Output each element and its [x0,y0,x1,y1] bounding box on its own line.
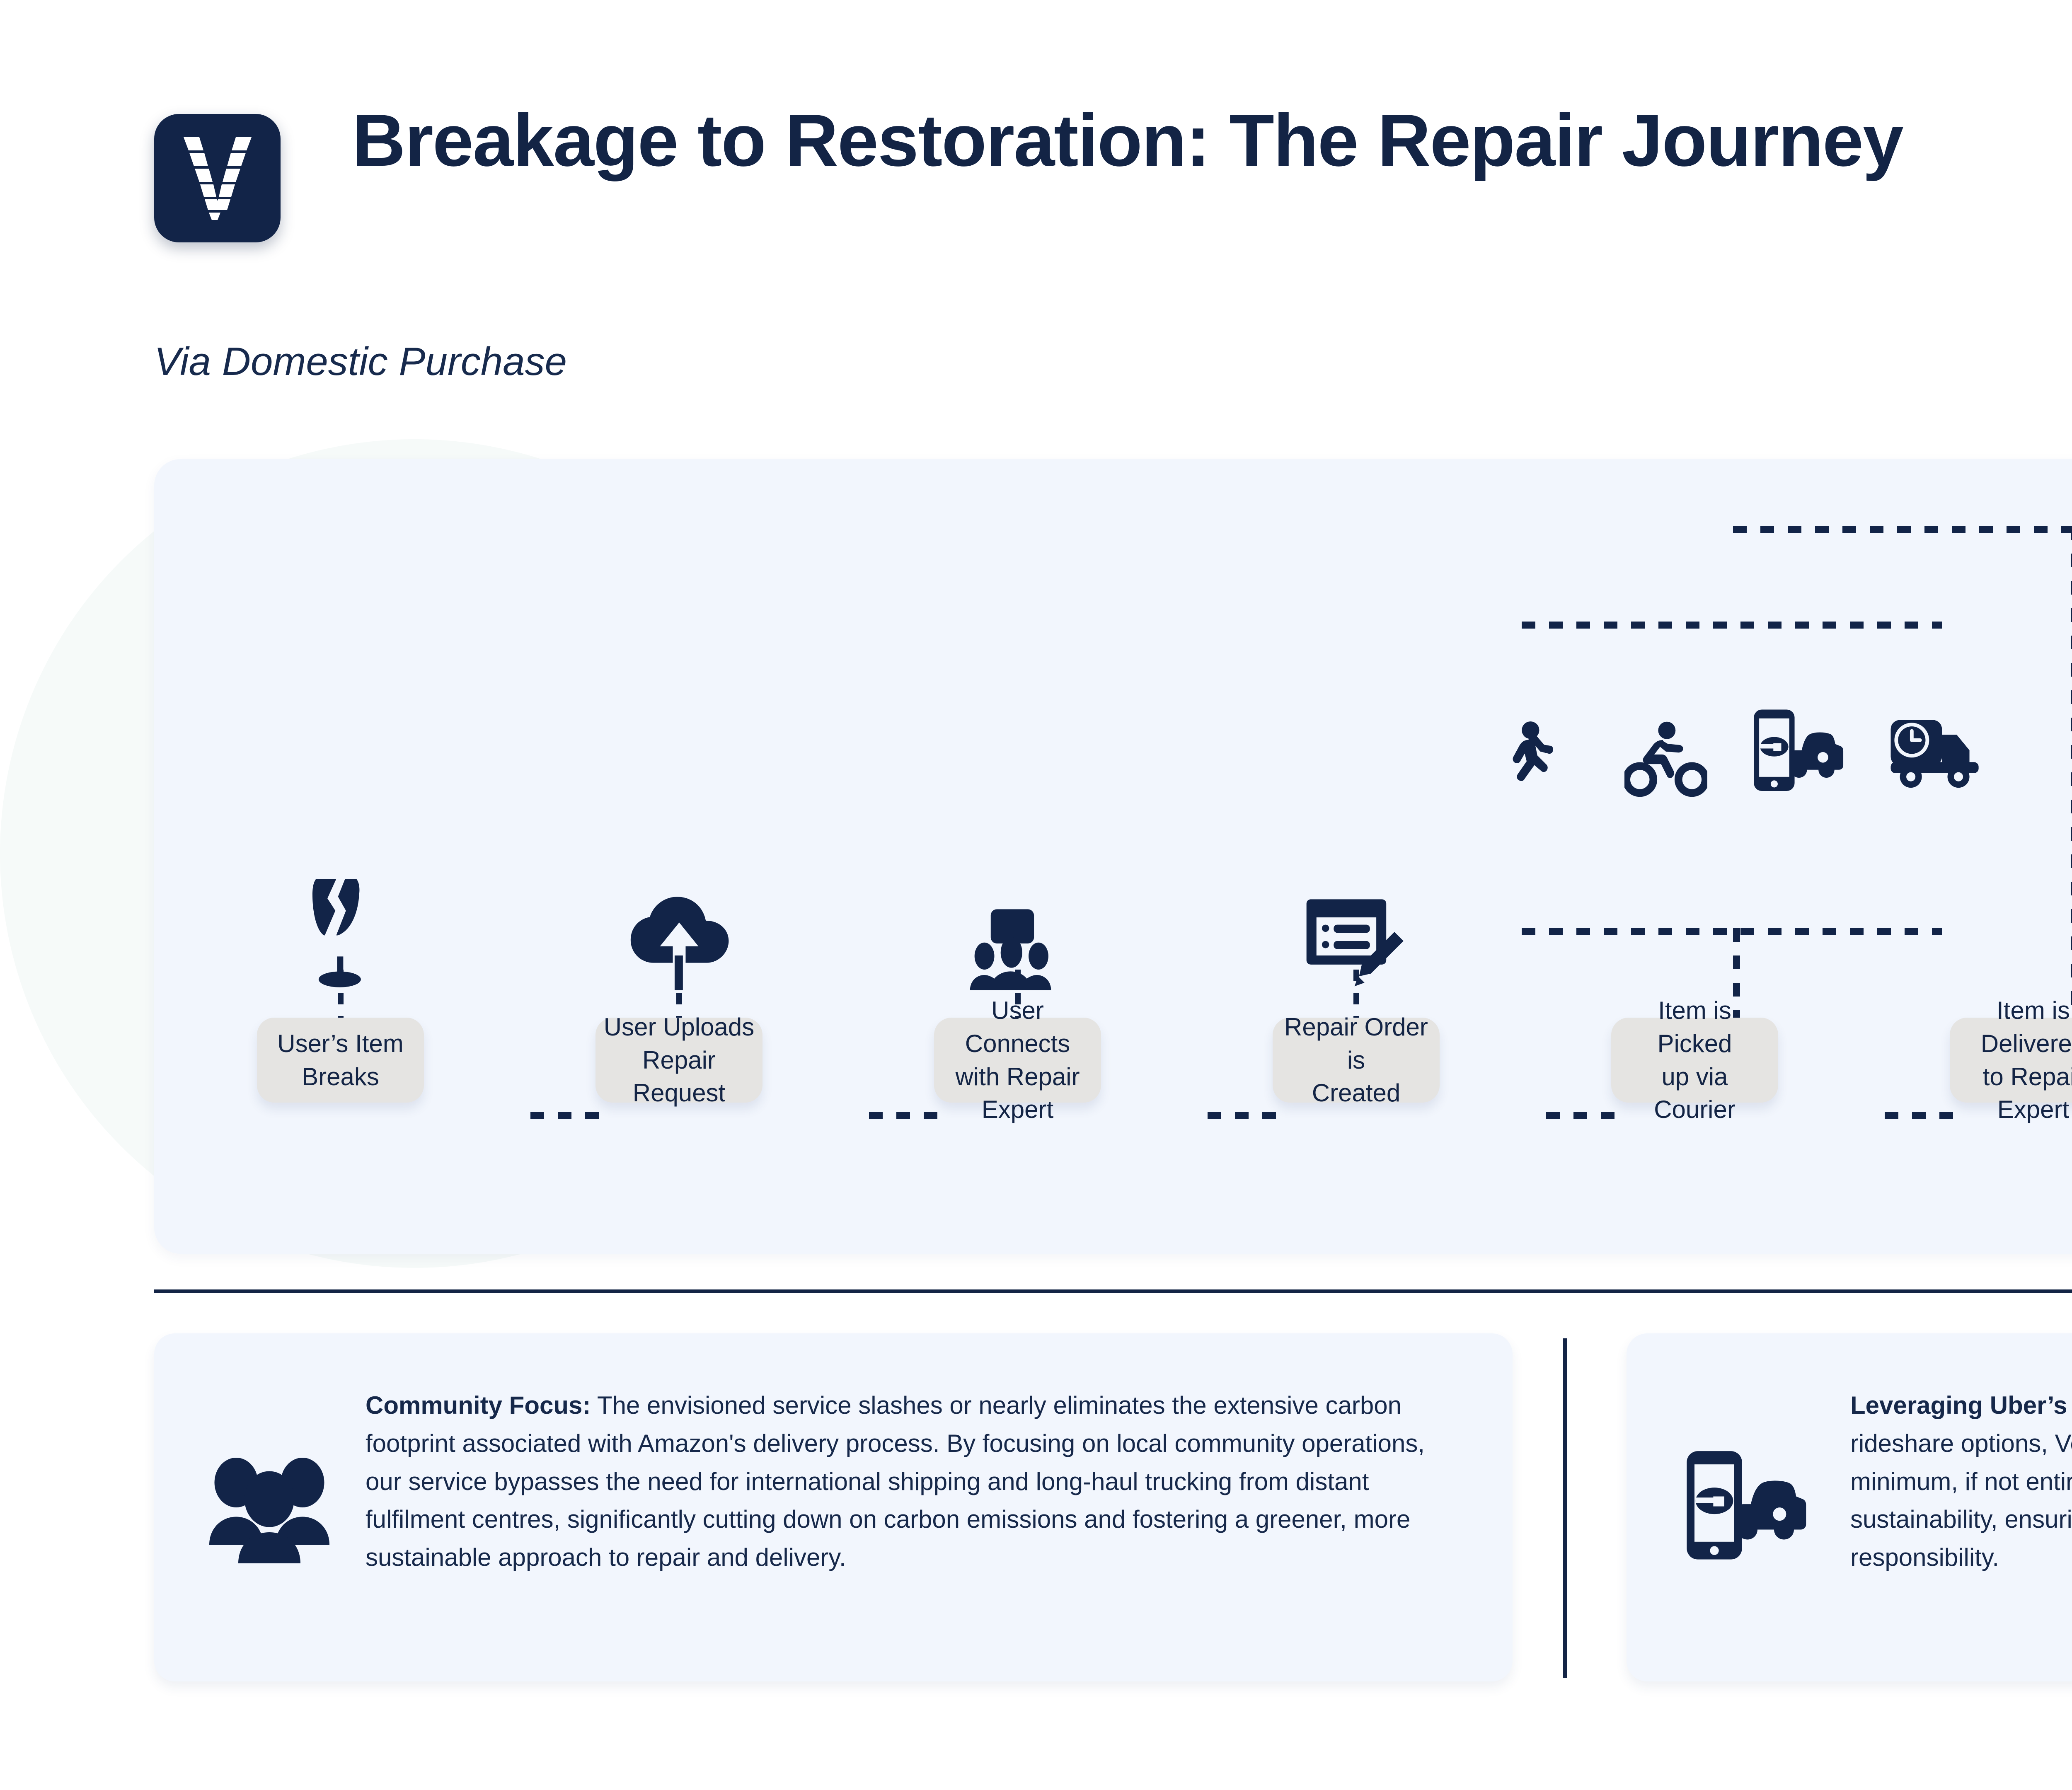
page-subtitle: Via Domestic Purchase [154,339,567,385]
step-label-line2: up via Courier [1654,1063,1736,1124]
walking-person-icon [1498,721,1561,800]
card-community-text: Community Focus: The envisioned service … [366,1386,1460,1577]
step-1-stem [338,970,344,1018]
step-label-6: Item is Deliveredto Repair Expert [1950,994,2072,1126]
step-label-1: User’s ItemBreaks [271,1027,410,1093]
infographic-page: Breakage to Restoration: The Repair Jour… [0,0,2072,1790]
step-label-line1: Item is Delivered [1981,997,2072,1057]
broken-glass-icon [305,849,376,990]
step-label-line2: to Repair Expert [1983,1063,2072,1124]
card-community-heading: Community Focus: [366,1391,591,1419]
card-community-focus: Community Focus: The envisioned service … [154,1333,1513,1681]
people-chat-icon [968,849,1067,990]
courier-box-bottom [1522,928,1942,935]
step-label-2: User UploadsRepair Request [595,1011,762,1110]
cards-vertical-divider [1563,1338,1567,1678]
process-flow-panel [154,459,2072,1254]
card-uber-service: Leveraging Uber’s Service: Utilizing Ube… [1627,1333,2072,1681]
connector-1-2 [530,1112,610,1119]
step-label-line1: User Connects [965,997,1070,1057]
step-label-line2: Breaks [302,1063,379,1091]
step-label-4: Repair Order isCreated [1273,1011,1440,1110]
step-label-line2: Repair Request [633,1046,725,1107]
step-label-line1: Repair Order is [1284,1013,1428,1074]
page-title: Breakage to Restoration: The Repair Jour… [352,104,1903,177]
header: Breakage to Restoration: The Repair Jour… [0,0,2072,439]
phone-rideshare-icon [1685,1449,1817,1567]
section-divider [154,1289,2072,1293]
phone-rideshare-icon [1752,706,1849,800]
step-label-line1: User’s Item [277,1030,404,1057]
step-box-1[interactable]: User’s ItemBreaks [257,1018,424,1103]
courier-box-top [1522,622,1942,629]
card-uber-heading: Leveraging Uber’s Service: [1850,1391,2072,1419]
step-label-5: Item is Pickedup via Courier [1611,994,1778,1126]
repair-form-icon [1305,849,1407,990]
bracket-top-rail [1733,526,2072,533]
step-label-line2: with Repair Expert [955,1063,1080,1124]
community-people-icon [207,1449,332,1565]
step-box-4[interactable]: Repair Order isCreated [1273,1018,1440,1103]
step-box-2[interactable]: User UploadsRepair Request [595,1018,762,1103]
step-box-5[interactable]: Item is Pickedup via Courier [1611,1018,1778,1103]
step-box-6[interactable]: Item is Deliveredto Repair Expert [1950,1018,2072,1103]
step-box-3[interactable]: User Connectswith Repair Expert [934,1018,1101,1103]
step-label-3: User Connectswith Repair Expert [934,994,1101,1126]
delivery-truck-icon [1889,713,1984,793]
step-label-line1: User Uploads [604,1013,755,1041]
velocity-v-logo-icon [154,114,281,242]
card-uber-text: Leveraging Uber’s Service: Utilizing Ube… [1850,1386,2072,1577]
cloud-upload-icon [628,849,730,990]
connector-3-4 [1208,1112,1287,1119]
step-label-line2: Created [1312,1079,1400,1107]
step-label-line1: Item is Picked [1657,997,1732,1057]
bicycle-rider-icon [1624,721,1707,800]
